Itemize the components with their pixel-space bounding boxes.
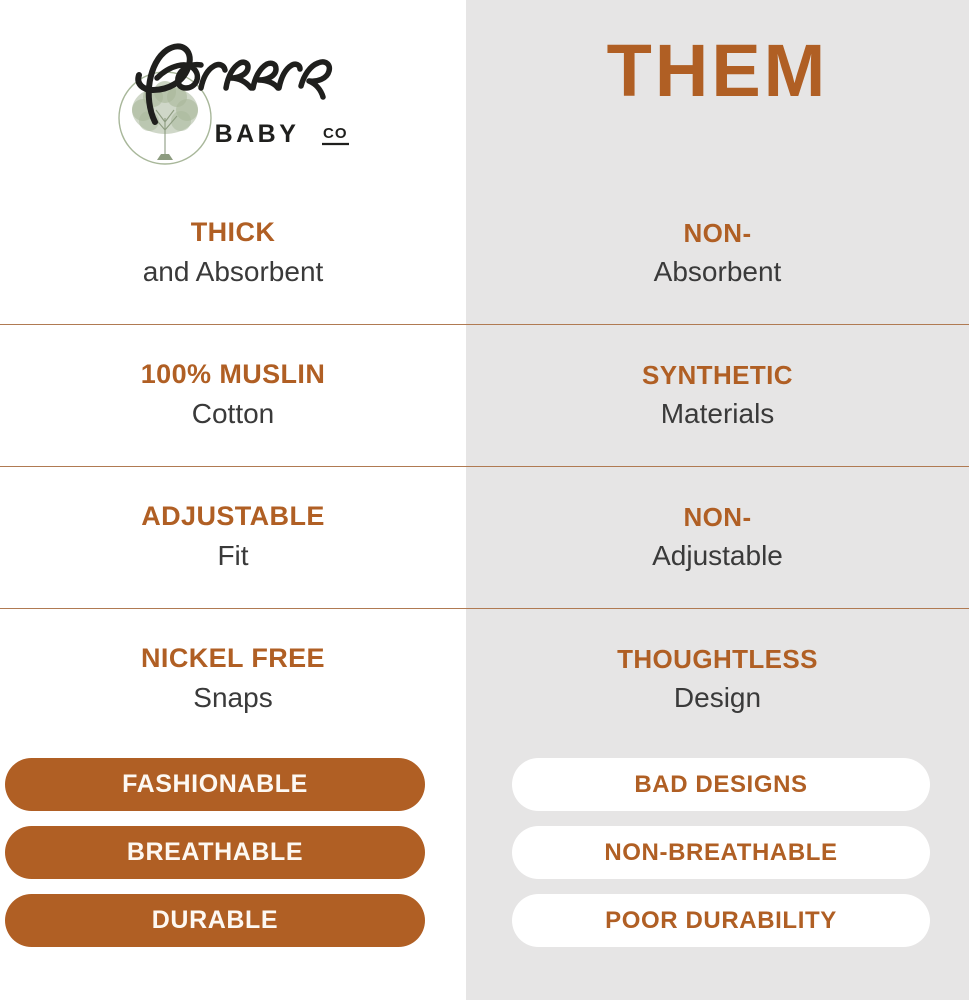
comparison-row: THICK and Absorbent NON- Absorbent bbox=[0, 183, 969, 324]
brand-logo: BABY CO bbox=[0, 18, 466, 188]
ours-pill-column: FASHIONABLE BREATHABLE DURABLE bbox=[5, 758, 425, 962]
comparison-row: NICKEL FREE Snaps THOUGHTLESS Design bbox=[0, 608, 969, 750]
ours-headline: NICKEL FREE bbox=[141, 642, 325, 676]
ours-pill[interactable]: DURABLE bbox=[5, 894, 425, 947]
theirs-detail: Absorbent bbox=[654, 254, 782, 290]
ours-detail: and Absorbent bbox=[143, 254, 324, 290]
theirs-headline: THOUGHTLESS bbox=[617, 643, 818, 676]
theirs-detail: Design bbox=[674, 680, 761, 716]
ours-pill[interactable]: FASHIONABLE bbox=[5, 758, 425, 811]
logo-baby-text: BABY bbox=[215, 120, 300, 148]
ours-detail: Snaps bbox=[193, 680, 272, 716]
theirs-headline: NON- bbox=[683, 501, 751, 534]
theirs-pill[interactable]: POOR DURABILITY bbox=[512, 894, 930, 947]
ours-headline: ADJUSTABLE bbox=[141, 500, 325, 534]
row-theirs-cell: SYNTHETIC Materials bbox=[466, 325, 969, 466]
theirs-pill[interactable]: NON-BREATHABLE bbox=[512, 826, 930, 879]
row-theirs-cell: NON- Adjustable bbox=[466, 467, 969, 608]
row-ours-cell: NICKEL FREE Snaps bbox=[0, 609, 466, 750]
row-ours-cell: ADJUSTABLE Fit bbox=[0, 467, 466, 608]
theirs-pill-column: BAD DESIGNS NON-BREATHABLE POOR DURABILI… bbox=[512, 758, 930, 962]
theirs-headline: SYNTHETIC bbox=[642, 359, 793, 392]
ours-headline: 100% MUSLIN bbox=[141, 358, 325, 392]
theirs-detail: Materials bbox=[661, 396, 775, 432]
row-theirs-cell: NON- Absorbent bbox=[466, 183, 969, 324]
ours-pill[interactable]: BREATHABLE bbox=[5, 826, 425, 879]
row-ours-cell: THICK and Absorbent bbox=[0, 183, 466, 324]
parker-baby-co-logo-icon: BABY CO bbox=[83, 18, 383, 178]
competitor-title: THEM bbox=[466, 34, 969, 108]
comparison-rows: THICK and Absorbent NON- Absorbent 100% … bbox=[0, 183, 969, 750]
theirs-pill[interactable]: BAD DESIGNS bbox=[512, 758, 930, 811]
ours-detail: Fit bbox=[217, 538, 248, 574]
ours-detail: Cotton bbox=[192, 396, 275, 432]
theirs-detail: Adjustable bbox=[652, 538, 783, 574]
feature-pills: FASHIONABLE BREATHABLE DURABLE BAD DESIG… bbox=[0, 758, 969, 1000]
row-theirs-cell: THOUGHTLESS Design bbox=[466, 609, 969, 750]
ours-headline: THICK bbox=[191, 216, 276, 250]
theirs-headline: NON- bbox=[683, 217, 751, 250]
logo-co-text: CO bbox=[323, 125, 348, 142]
comparison-row: 100% MUSLIN Cotton SYNTHETIC Materials bbox=[0, 324, 969, 466]
comparison-infographic: BABY CO THEM THICK and Absorbent NON- Ab… bbox=[0, 0, 969, 1000]
row-ours-cell: 100% MUSLIN Cotton bbox=[0, 325, 466, 466]
header: BABY CO THEM bbox=[0, 0, 969, 200]
comparison-row: ADJUSTABLE Fit NON- Adjustable bbox=[0, 466, 969, 608]
